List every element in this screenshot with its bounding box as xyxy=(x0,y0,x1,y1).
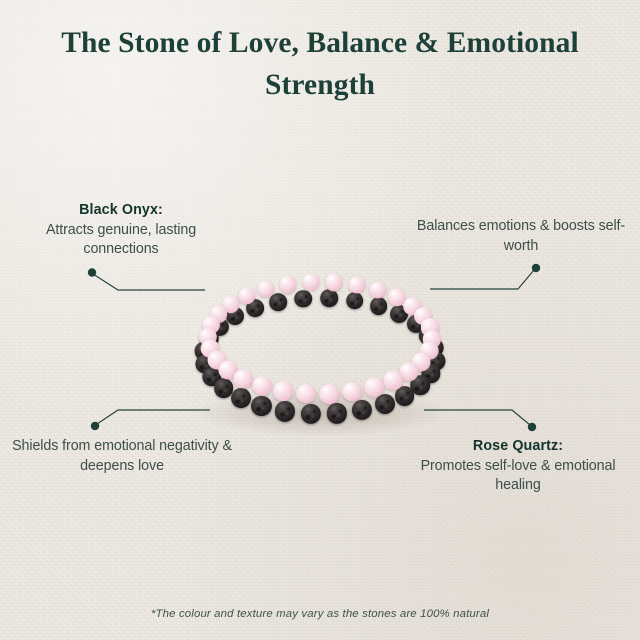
disclaimer-note: *The colour and texture may vary as the … xyxy=(40,608,600,620)
bracelet-bead-black xyxy=(327,403,347,423)
bracelet-bead-black xyxy=(295,290,313,308)
connector-dot-top-right xyxy=(532,264,540,272)
callout-heading: Rose Quartz: xyxy=(404,437,632,457)
connector-dot-bottom-left xyxy=(91,422,99,430)
bracelet-bead-black xyxy=(320,289,338,307)
connector-dot-top-left xyxy=(88,268,96,276)
bracelet-bead-pink xyxy=(234,369,253,388)
bracelet-bead-pink xyxy=(348,277,365,294)
bracelet-bead-pink xyxy=(343,382,363,402)
callout-body: Attracts genuine, lasting connections xyxy=(8,221,234,260)
callout-heading: Black Onyx: xyxy=(8,201,234,221)
bracelet-bead-pink xyxy=(325,274,342,291)
bracelet-bead-black xyxy=(275,401,295,421)
callout-black-onyx: Black Onyx: Attracts genuine, lasting co… xyxy=(8,201,234,260)
bracelet-bead-black xyxy=(395,386,415,406)
bracelet-bead-black xyxy=(375,394,395,414)
bracelet-bead-black xyxy=(352,400,372,420)
bracelet-bead-pink xyxy=(279,276,296,293)
page-title: The Stone of Love, Balance & Emotional S… xyxy=(40,22,600,106)
bracelet-bead-black xyxy=(269,293,287,311)
bracelet-bead-pink xyxy=(252,376,272,396)
callout-balances-emotions: Balances emotions & boosts self-worth xyxy=(410,217,632,256)
connector-dot-bottom-right xyxy=(528,423,536,431)
bracelet-bead-black xyxy=(251,396,271,416)
callout-shields-negativity: Shields from emotional negativity & deep… xyxy=(6,437,238,476)
infographic-canvas: The Stone of Love, Balance & Emotional S… xyxy=(0,0,640,640)
bracelet-image xyxy=(178,240,462,440)
callout-rose-quartz: Rose Quartz: Promotes self-love & emotio… xyxy=(404,437,632,496)
callout-body: Balances emotions & boosts self-worth xyxy=(410,217,632,256)
bracelet-bead-pink xyxy=(364,377,384,397)
bracelet-beads xyxy=(178,240,462,440)
bracelet-bead-pink xyxy=(296,384,316,404)
bracelet-bead-black xyxy=(301,404,321,424)
callout-body: Promotes self-love & emotional healing xyxy=(404,457,632,496)
bracelet-bead-black xyxy=(231,388,251,408)
callout-body: Shields from emotional negativity & deep… xyxy=(6,437,238,476)
bracelet-bead-pink xyxy=(273,381,293,401)
bracelet-bead-pink xyxy=(369,281,386,298)
bracelet-bead-black xyxy=(346,292,364,310)
bracelet-bead-pink xyxy=(320,384,340,404)
bracelet-bead-black xyxy=(370,297,388,315)
bracelet-bead-pink xyxy=(302,274,319,291)
